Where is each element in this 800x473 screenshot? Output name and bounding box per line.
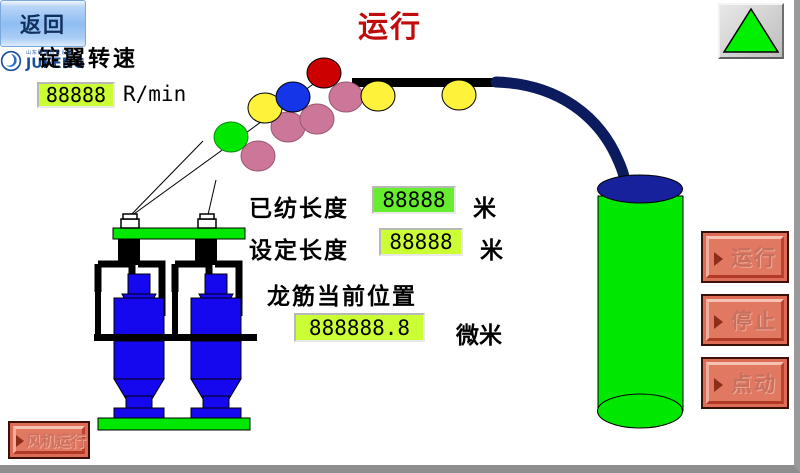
spun-length-unit: 米 [473, 189, 496, 223]
can-top-opening [598, 175, 683, 203]
fan-run-button[interactable]: 风机运行 [8, 421, 90, 459]
set-length-label: 设定长度 [249, 231, 349, 265]
spindle-assembly [94, 214, 257, 430]
spindle-unit-left [94, 239, 180, 418]
rail-position-value: 888888.8 [294, 313, 425, 342]
sliver-path [496, 82, 625, 196]
rail-position-unit: 微米 [456, 316, 502, 350]
run-button[interactable]: 运行 [701, 231, 789, 283]
bead-yellow-3 [442, 80, 476, 110]
spun-length-value: 88888 [372, 186, 456, 214]
jog-button-label: 点动 [713, 368, 777, 398]
fan-run-button-label: 风机运行 [12, 430, 86, 451]
bead-blue [276, 82, 310, 112]
bead-pink-1 [241, 141, 275, 171]
rail-position-label: 龙筋当前位置 [267, 277, 417, 311]
roving-can [598, 175, 684, 428]
stop-button-label: 停止 [713, 305, 777, 335]
bottom-rail [98, 418, 250, 430]
brand-sub: 山东聚风智控设备 [26, 51, 108, 59]
spun-length-label: 已纺长度 [249, 189, 349, 223]
run-button-label: 运行 [713, 242, 777, 272]
bead-yellow-2 [361, 81, 395, 111]
set-length-value: 88888 [379, 228, 463, 256]
roving-beads [214, 58, 476, 171]
bead-pink-3 [300, 104, 334, 134]
bead-pink-4 [329, 82, 363, 112]
set-length-unit: 米 [480, 231, 503, 265]
spindle-unit-right [171, 239, 257, 418]
stop-button[interactable]: 停止 [701, 294, 789, 346]
bead-red [307, 58, 341, 88]
hmi-screen: 运行 锭翼转速 88888 R/min [0, 0, 800, 473]
jog-button[interactable]: 点动 [701, 357, 789, 409]
top-rail [113, 228, 245, 239]
bead-green [214, 122, 248, 152]
